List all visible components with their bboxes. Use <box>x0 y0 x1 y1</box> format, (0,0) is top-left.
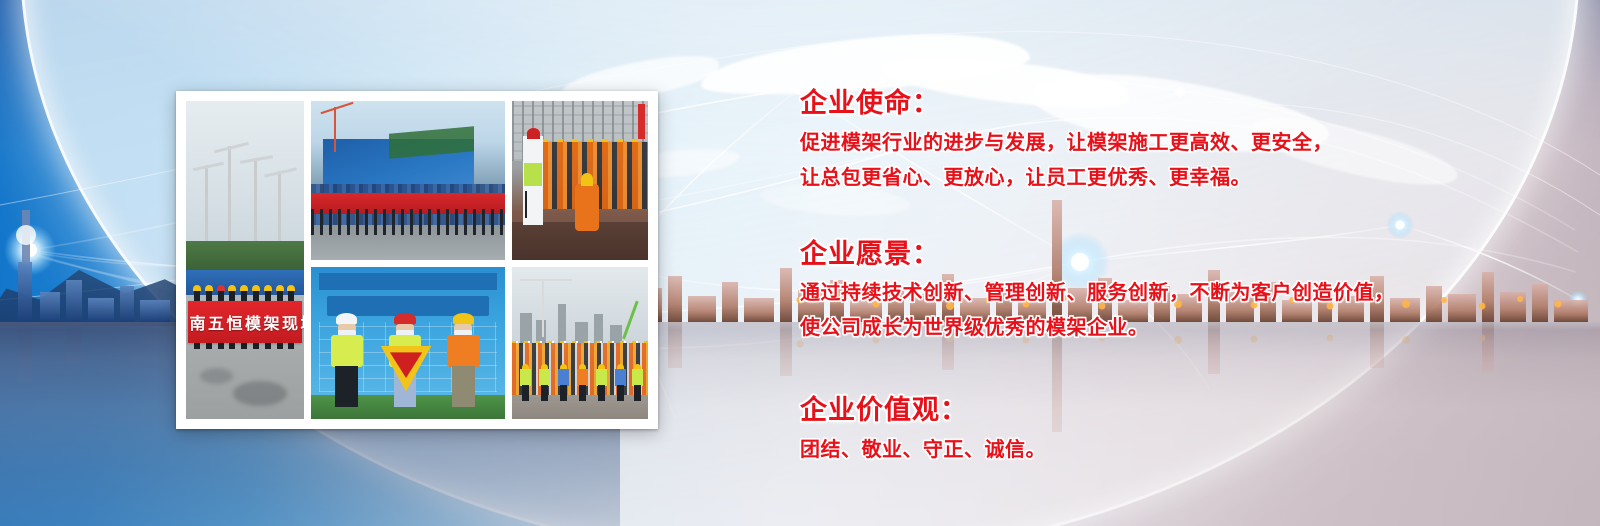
mission-line-1: 促进模架行业的进步与发展，让模架施工更高效、更安全， <box>800 125 1580 160</box>
values-heading: 企业价值观： <box>800 391 1580 432</box>
photo-team-site-banner: 湖南五恒模架现场 <box>186 101 304 419</box>
vision-block: 企业愿景： 通过持续技术创新、管理创新、服务创新，不断为客户创造价值， 使公司成… <box>800 235 1580 346</box>
values-block: 企业价值观： 团结、敬业、守正、诚信。 <box>800 391 1580 467</box>
values-line-1: 团结、敬业、守正、诚信。 <box>800 432 1580 467</box>
photo-worker-assembly <box>512 267 648 419</box>
photo-collage: 湖南五恒模架现场 <box>176 91 658 429</box>
vision-heading: 企业愿景： <box>800 235 1580 276</box>
vision-line-1: 通过持续技术创新、管理创新、服务创新，不断为客户创造价值， <box>800 275 1580 310</box>
culture-text-block: 企业使命： 促进模架行业的进步与发展，让模架施工更高效、更安全， 让总包更省心、… <box>800 84 1580 471</box>
site-banner-text: 湖南五恒模架现场 <box>186 310 304 334</box>
photo-scaffold-workers <box>512 101 648 260</box>
photo-safety-assembly <box>311 101 505 260</box>
mission-block: 企业使命： 促进模架行业的进步与发展，让模架施工更高效、更安全， 让总包更省心、… <box>800 84 1580 195</box>
vision-line-2: 使公司成长为世界级优秀的模架企业。 <box>800 310 1580 345</box>
site-banner: 湖南五恒模架现场 <box>188 301 301 342</box>
photo-award-pennant <box>311 267 505 419</box>
mission-line-2: 让总包更省心、更放心，让员工更优秀、更幸福。 <box>800 160 1580 195</box>
mission-heading: 企业使命： <box>800 84 1580 125</box>
corporate-culture-banner: 湖南五恒模架现场 <box>0 0 1600 526</box>
